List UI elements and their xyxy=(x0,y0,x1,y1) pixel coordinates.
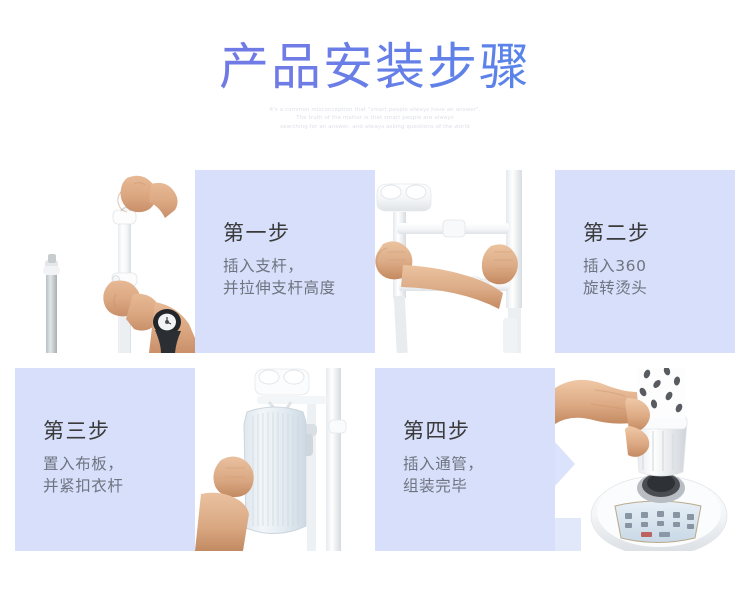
step-2-desc-line-2: 旋转烫头 xyxy=(583,277,651,299)
step-3-panel: 第三步 置入布板， 并紧扣衣杆 xyxy=(15,368,195,551)
subtitle-line-2: The truth of the matter is that smart pe… xyxy=(0,114,750,122)
step-1-desc-line-1: 插入支杆， xyxy=(223,255,336,277)
subtitle-line-3: searching for an answer, and always aski… xyxy=(0,123,750,131)
step-2-desc-line-1: 插入360 xyxy=(583,255,651,277)
ironing-board-illustration xyxy=(195,368,375,551)
step-2-title: 第二步 xyxy=(583,220,651,246)
step-1-desc-line-2: 并拉伸支杆高度 xyxy=(223,277,336,299)
step-2-text-block: 第二步 插入360 旋转烫头 xyxy=(583,220,651,299)
step-1-panel: 第一步 插入支杆， 并拉伸支杆高度 xyxy=(195,170,375,353)
step-2-desc: 插入360 旋转烫头 xyxy=(583,255,651,299)
steps-grid: 第一步 插入支杆， 并拉伸支杆高度 xyxy=(15,170,735,551)
step-4-desc: 插入通管， 组装完毕 xyxy=(403,453,484,497)
hanger-bracket-illustration xyxy=(375,170,555,353)
steamer-base-illustration xyxy=(555,368,735,551)
step-1-title: 第一步 xyxy=(223,220,336,246)
subtitle-line-1: It's a common misconception that "smart … xyxy=(0,106,750,114)
step-1-desc: 插入支杆， 并拉伸支杆高度 xyxy=(223,255,336,299)
step-3-text-block: 第三步 置入布板， 并紧扣衣杆 xyxy=(43,418,124,497)
step-4-text-block: 第四步 插入通管， 组装完毕 xyxy=(403,418,484,497)
step-4-panel: 第四步 插入通管， 组装完毕 xyxy=(375,368,555,551)
page-header: 产品安装步骤 It's a common misconception that … xyxy=(0,0,750,170)
step-2-photo xyxy=(375,170,555,353)
product-installation-steps-page: 产品安装步骤 It's a common misconception that … xyxy=(0,0,750,604)
step-2-panel: 第二步 插入360 旋转烫头 xyxy=(555,170,735,353)
step-4-desc-line-2: 组装完毕 xyxy=(403,475,484,497)
page-subtitle: It's a common misconception that "smart … xyxy=(0,106,750,131)
step-3-title: 第三步 xyxy=(43,418,124,444)
step-1-photo xyxy=(15,170,195,353)
step-3-desc: 置入布板， 并紧扣衣杆 xyxy=(43,453,124,497)
telescopic-pole-illustration xyxy=(15,170,195,353)
step-4-desc-line-1: 插入通管， xyxy=(403,453,484,475)
step-1-text-block: 第一步 插入支杆， 并拉伸支杆高度 xyxy=(223,220,336,299)
step-3-desc-line-2: 并紧扣衣杆 xyxy=(43,475,124,497)
step-4-photo xyxy=(555,368,735,551)
step-3-desc-line-1: 置入布板， xyxy=(43,453,124,475)
step-3-photo xyxy=(195,368,375,551)
step-4-title: 第四步 xyxy=(403,418,484,444)
page-title: 产品安装步骤 xyxy=(0,38,750,96)
